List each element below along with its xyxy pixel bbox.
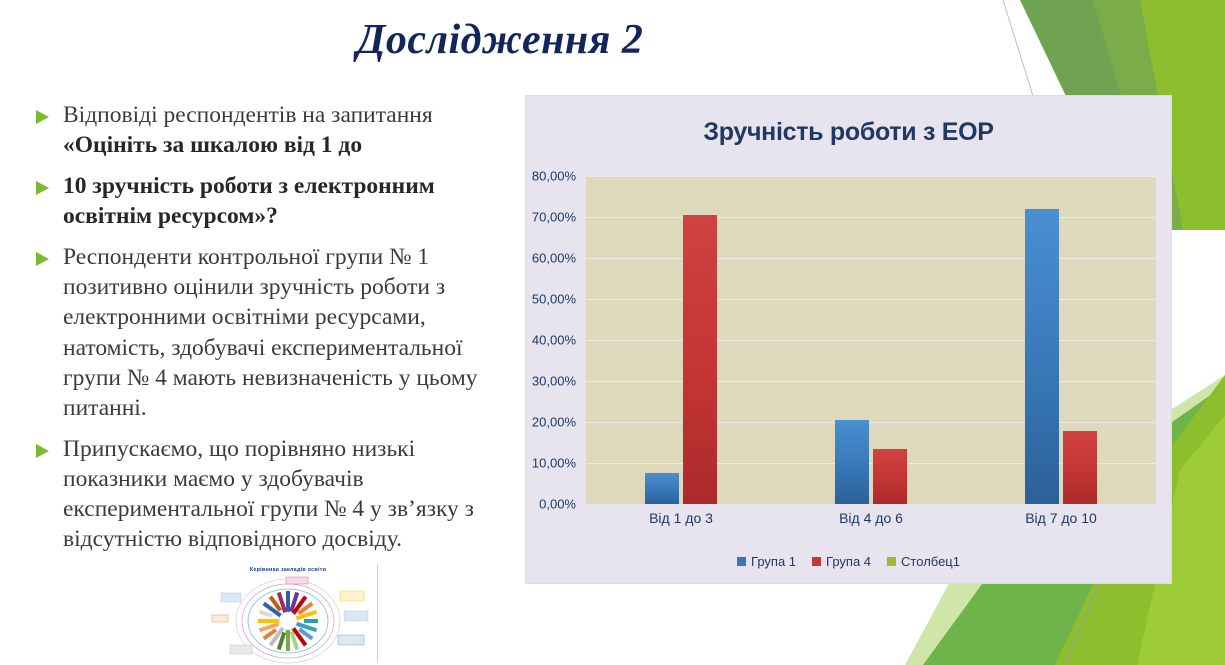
- chart-legend-label: Група 4: [826, 554, 871, 569]
- list-item-text: Респонденти контрольної групи № 1 позити…: [63, 242, 504, 422]
- chart-bar: [1063, 431, 1097, 504]
- chart-legend-swatch: [887, 557, 896, 566]
- bullet-text-part: Респонденти контрольної групи № 1 позити…: [63, 244, 478, 420]
- chart-x-axis: Від 1 до 3Від 4 до 6Від 7 до 10: [586, 510, 1156, 534]
- chart-y-axis: 0,00%10,00%20,00%30,00%40,00%50,00%60,00…: [526, 176, 582, 504]
- triangle-right-icon: [34, 251, 50, 267]
- list-item-text: Припускаємо, що порівняно низькі показни…: [63, 434, 504, 554]
- chart-bar: [835, 420, 869, 504]
- thumbnail-radial-graphic: [208, 563, 394, 665]
- bullet-text-part: «Оцініть за шкалою від 1 до: [63, 132, 362, 158]
- thumbnail-title: Керівники закладів освіти: [208, 567, 368, 573]
- chart-y-tick-label: 50,00%: [532, 292, 576, 307]
- chart-bar-group: [776, 176, 966, 504]
- chart-legend-entry[interactable]: Група 4: [812, 554, 871, 569]
- bullet-text-part: Припускаємо, що порівняно низькі показни…: [63, 436, 474, 552]
- chart-x-tick-label: Від 7 до 10: [1025, 510, 1097, 526]
- chart-y-tick-label: 10,00%: [532, 456, 576, 471]
- triangle-right-icon: [34, 443, 50, 459]
- chart-legend-label: Група 1: [751, 554, 796, 569]
- list-item-text: Відповіді респондентів на запитання «Оці…: [63, 100, 504, 160]
- list-item-text: 10 зручність роботи з електронним освітн…: [63, 171, 504, 231]
- chart-y-tick-label: 30,00%: [532, 374, 576, 389]
- thumbnail-divider: [377, 565, 378, 663]
- slide-canvas: Дослідження 2 Відповіді респондентів на …: [0, 0, 1225, 665]
- chart-legend-entry[interactable]: Столбец1: [887, 554, 960, 569]
- bullet-text-part: 10 зручність роботи з електронним освітн…: [63, 173, 435, 229]
- chart-y-tick-label: 40,00%: [532, 333, 576, 348]
- chart-bar: [645, 473, 679, 504]
- radial-chart-thumbnail: Керівники закладів освіти: [208, 563, 394, 665]
- list-item: Відповіді респондентів на запитання «Оці…: [34, 100, 504, 160]
- list-item: Респонденти контрольної групи № 1 позити…: [34, 242, 504, 422]
- chart-legend-entry[interactable]: Група 1: [737, 554, 796, 569]
- chart-legend-swatch: [737, 557, 746, 566]
- chart-y-tick-label: 0,00%: [539, 497, 576, 512]
- triangle-right-icon: [34, 109, 50, 125]
- list-item: 10 зручність роботи з електронним освітн…: [34, 171, 504, 231]
- chart-bar: [873, 449, 907, 504]
- chart-legend: Група 1Група 4Столбец1: [526, 554, 1171, 569]
- bullet-text-part: Відповіді респондентів на запитання: [63, 102, 433, 128]
- chart-y-tick-label: 70,00%: [532, 210, 576, 225]
- chart-x-tick-label: Від 4 до 6: [839, 510, 903, 526]
- list-item: Припускаємо, що порівняно низькі показни…: [34, 434, 504, 554]
- chart-plot-area: [586, 176, 1156, 504]
- chart-x-tick-label: Від 1 до 3: [649, 510, 713, 526]
- triangle-right-icon: [34, 180, 50, 196]
- chart-panel: Зручність роботи з ЕОР 0,00%10,00%20,00%…: [526, 96, 1171, 583]
- page-title: Дослідження 2: [0, 16, 1000, 64]
- chart-bar: [683, 215, 717, 504]
- chart-legend-swatch: [812, 557, 821, 566]
- chart-title: Зручність роботи з ЕОР: [526, 118, 1171, 147]
- chart-legend-label: Столбец1: [901, 554, 960, 569]
- chart-y-tick-label: 80,00%: [532, 169, 576, 184]
- chart-y-tick-label: 60,00%: [532, 251, 576, 266]
- chart-bar-group: [586, 176, 776, 504]
- chart-y-tick-label: 20,00%: [532, 415, 576, 430]
- chart-bar: [1025, 209, 1059, 504]
- chart-bar-group: [966, 176, 1156, 504]
- bullet-list: Відповіді респондентів на запитання «Оці…: [34, 100, 504, 565]
